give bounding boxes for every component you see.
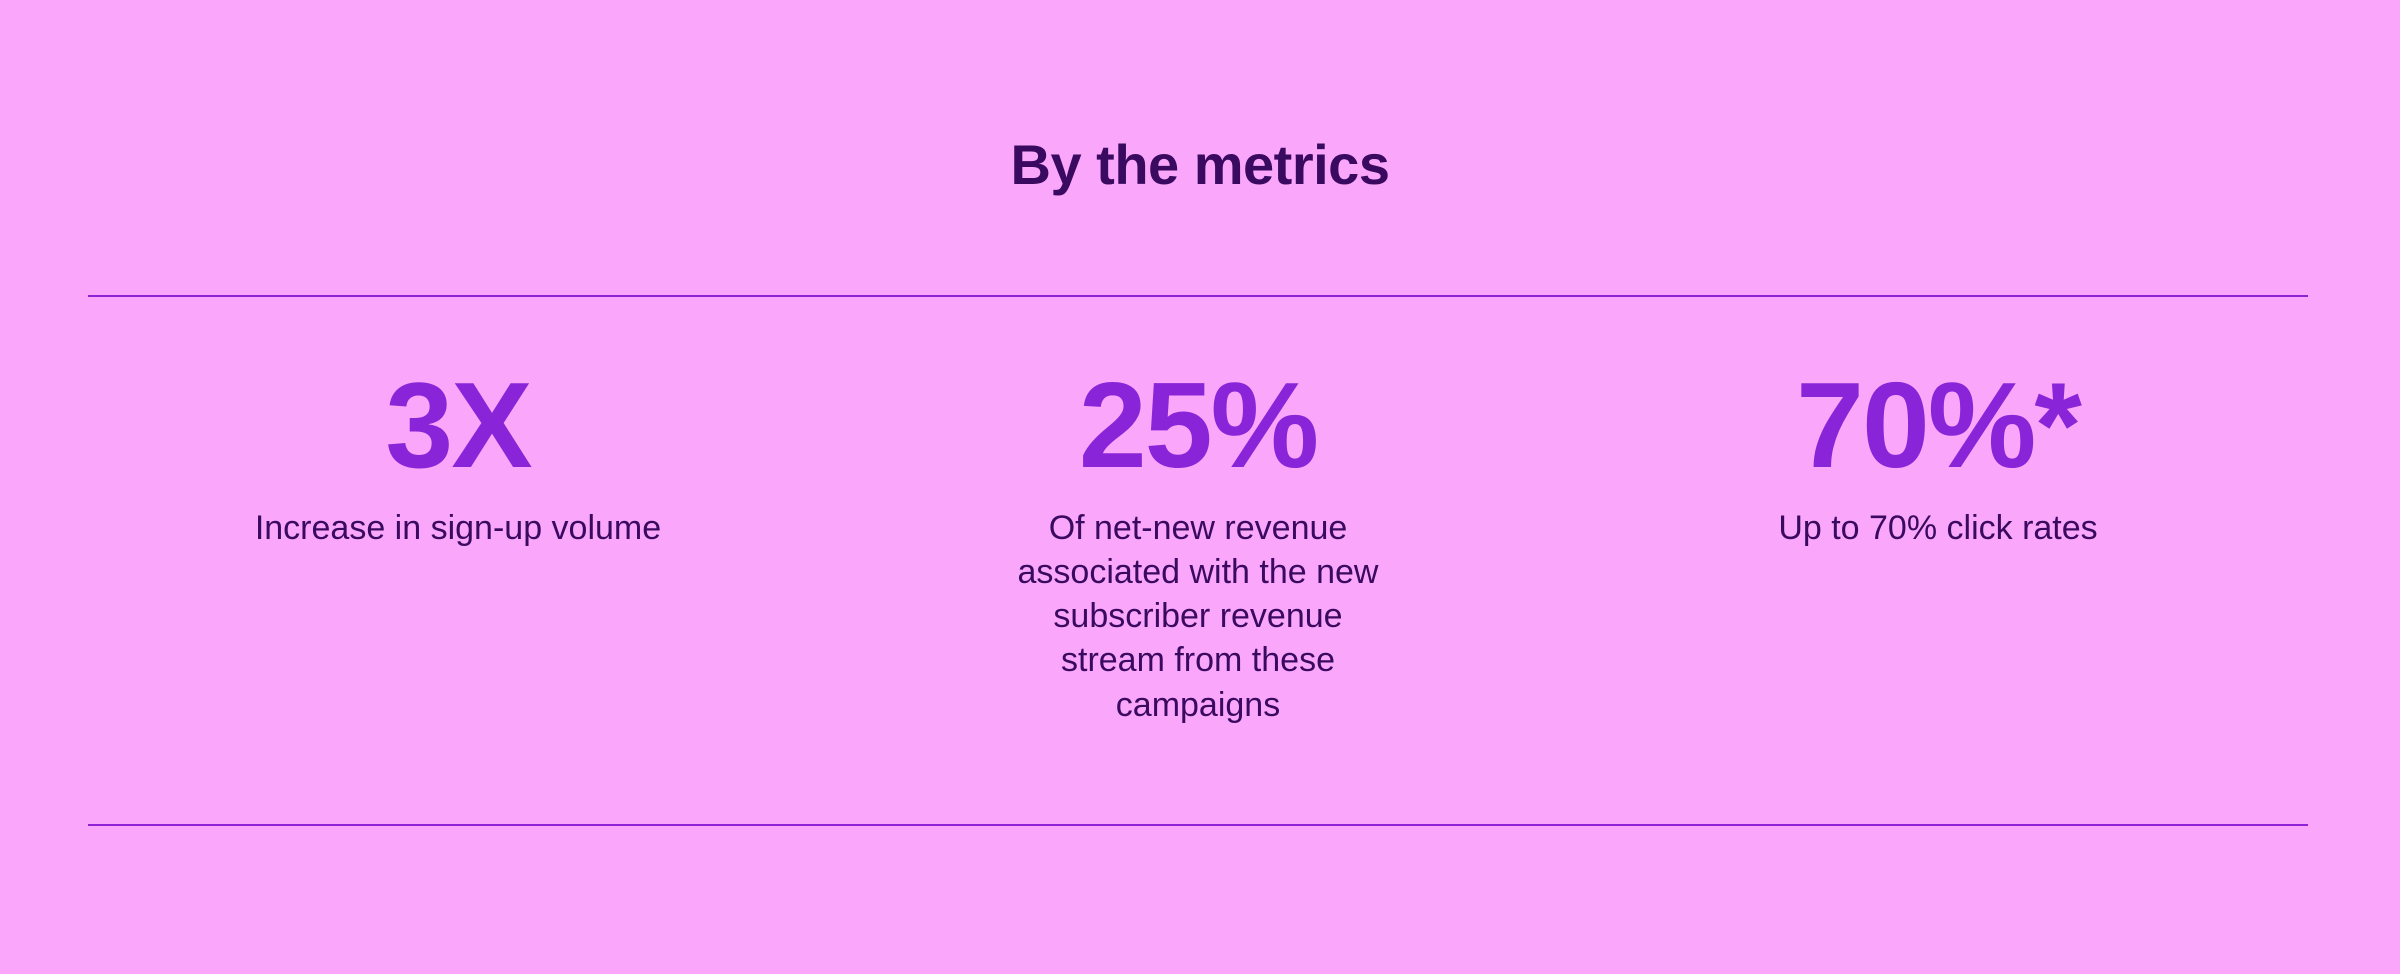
metric-item-signups: 3X Increase in sign-up volume <box>88 360 828 727</box>
metric-label: Up to 70% click rates <box>1778 506 2097 550</box>
divider-bottom <box>88 824 2308 826</box>
metrics-grid: 3X Increase in sign-up volume 25% Of net… <box>88 360 2308 727</box>
metric-value: 70%* <box>1796 360 2080 492</box>
divider-top <box>88 295 2308 297</box>
metric-label: Of net-new revenue associated with the n… <box>998 506 1398 727</box>
page-title: By the metrics <box>0 131 2400 198</box>
by-the-metrics-section: By the metrics 3X Increase in sign-up vo… <box>0 0 2400 974</box>
metric-value: 25% <box>1079 360 1317 492</box>
metric-label: Increase in sign-up volume <box>255 506 661 550</box>
metric-item-click-rates: 70%* Up to 70% click rates <box>1568 360 2308 727</box>
metric-item-revenue: 25% Of net-new revenue associated with t… <box>828 360 1568 727</box>
metric-value: 3X <box>385 360 530 492</box>
